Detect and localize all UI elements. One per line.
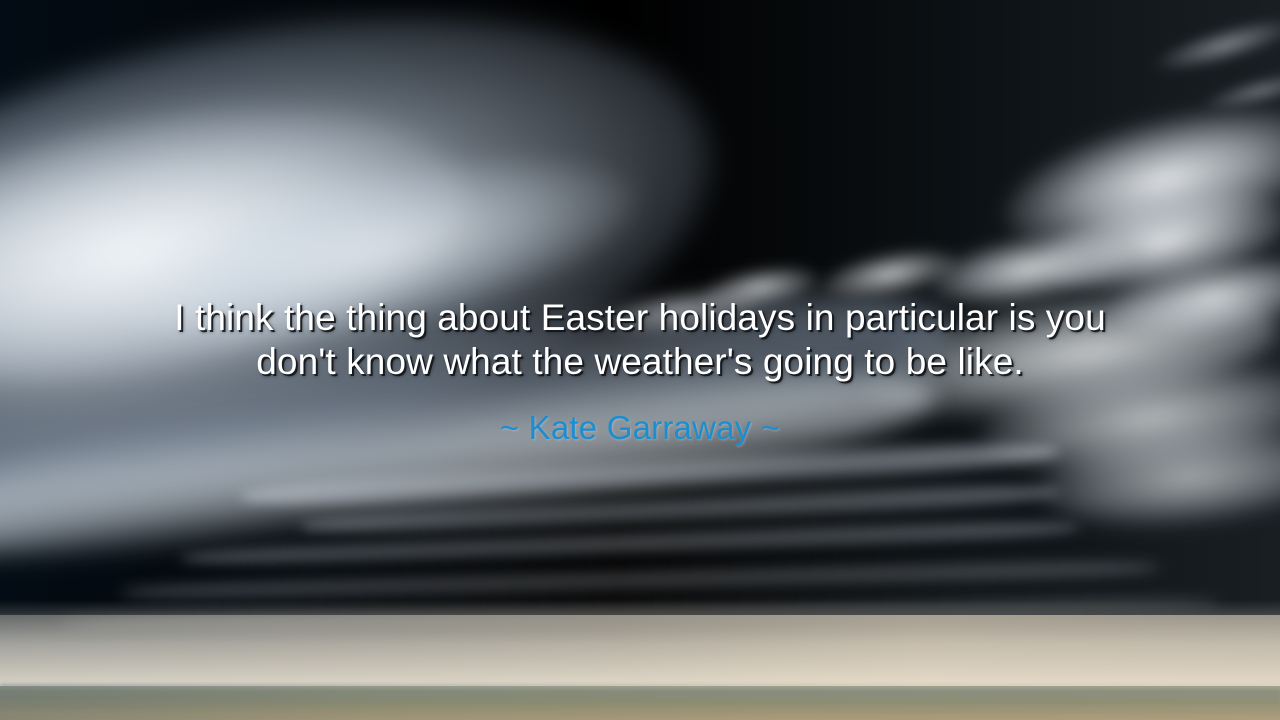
landscape-streak-3 [0,710,1280,714]
quote-attribution: ~ Kate Garraway ~ [0,408,1280,448]
landscape-streak-2 [0,700,1280,704]
horizon-warm-glow [0,615,1280,695]
quote-line-1: I think the thing about Easter holidays … [0,296,1280,340]
quote-block: I think the thing about Easter holidays … [0,296,1280,384]
quote-image-canvas: I think the thing about Easter holidays … [0,0,1280,720]
landscape-streak-1 [0,690,1280,694]
quote-line-2: don't know what the weather's going to b… [0,340,1280,384]
